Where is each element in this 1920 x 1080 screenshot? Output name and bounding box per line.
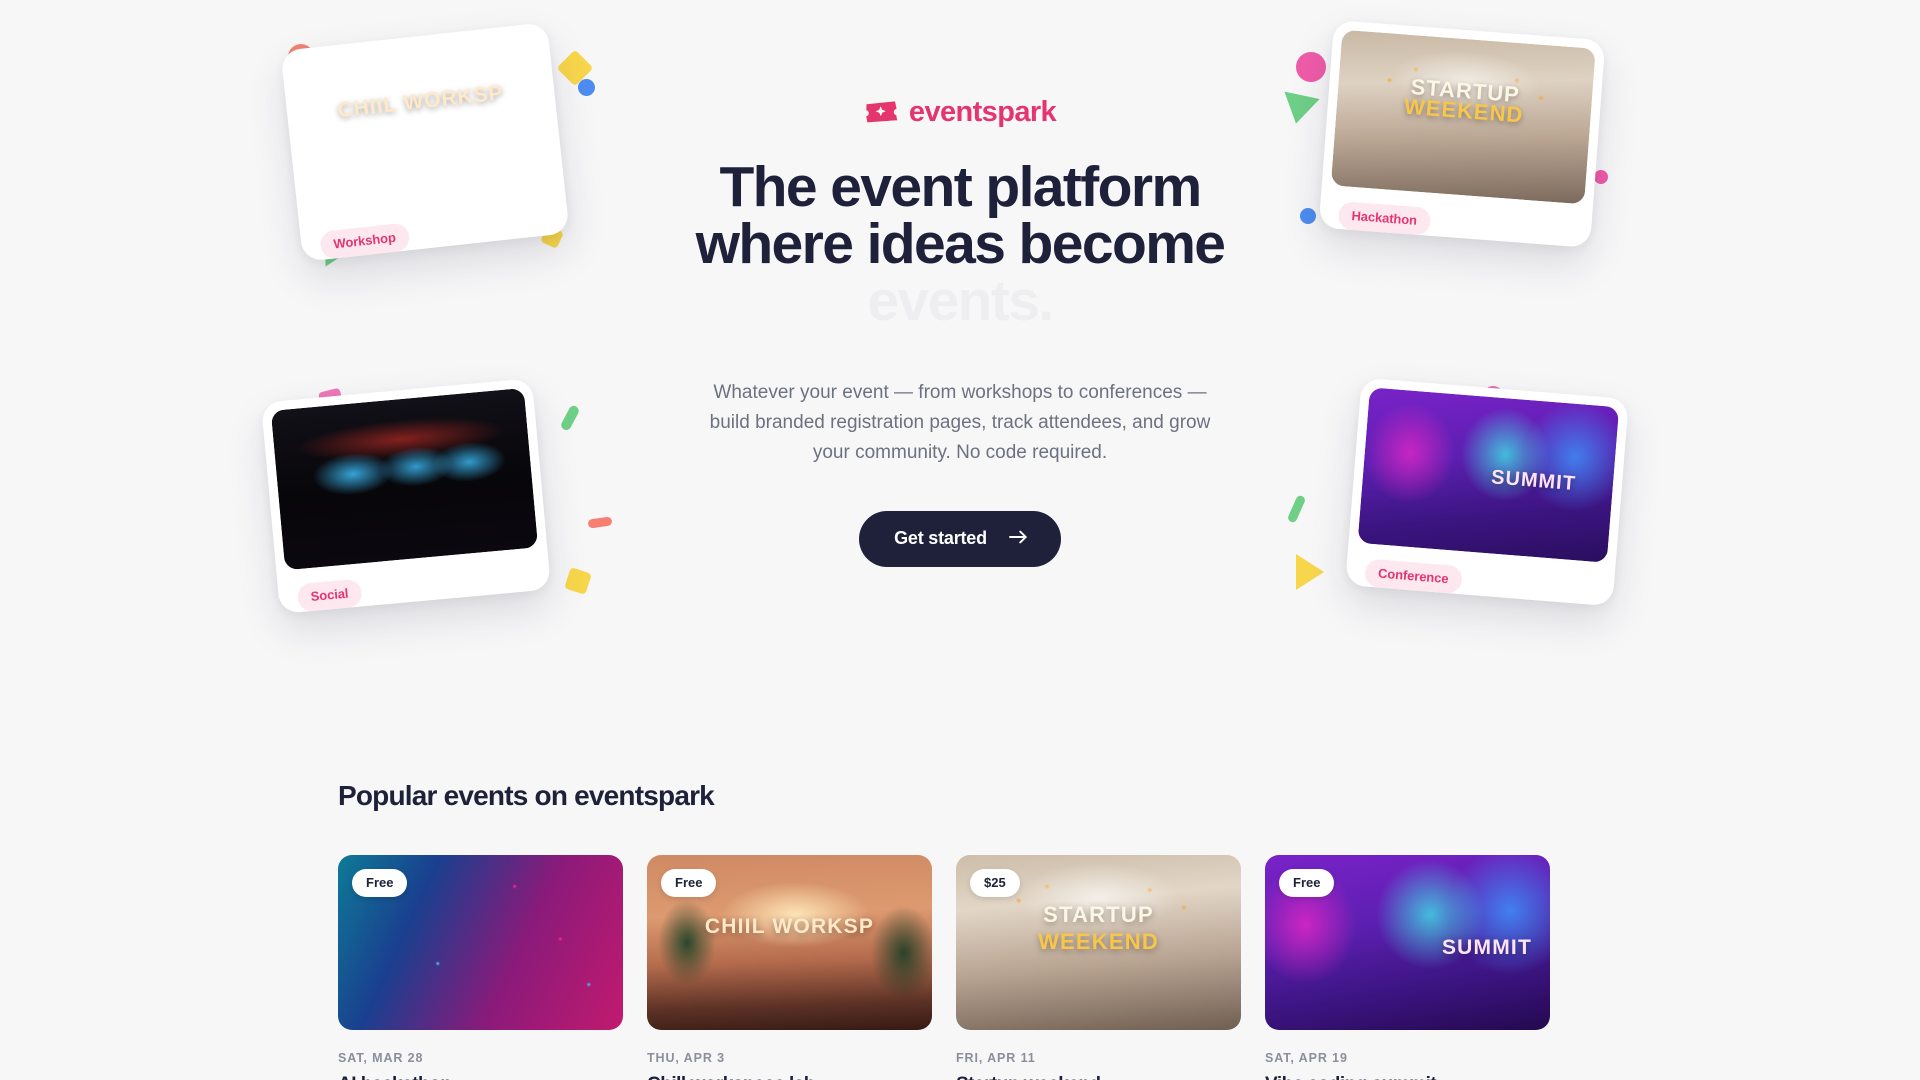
- floating-card-photo-conference: SUMMIT: [1358, 387, 1620, 563]
- event-title: Vibe coding summit: [1265, 1074, 1550, 1080]
- event-date: SAT, MAR 28: [338, 1051, 623, 1065]
- tag-pill-conference: Conference: [1364, 559, 1462, 595]
- tag-pill-hackathon: Hackathon: [1338, 201, 1431, 236]
- decor-circle-pink-topright: [1296, 52, 1326, 82]
- events-grid: Free SAT, MAR 28 AI hackathon Free CHIIL…: [338, 855, 1550, 1080]
- hero-content: eventspark The event platform where idea…: [580, 96, 1340, 567]
- tag-pill-workshop: Workshop: [319, 222, 410, 259]
- event-thumbnail-startup-weekend: $25 STARTUP WEEKEND: [956, 855, 1241, 1030]
- headline-line-2: where ideas become: [580, 216, 1340, 273]
- arrow-right-icon: [1009, 528, 1028, 549]
- popular-events-title: Popular events on eventspark: [338, 780, 714, 812]
- event-thumbnail-chill-workspace: Free CHIIL WORKSP: [647, 855, 932, 1030]
- event-card[interactable]: Free SAT, MAR 28 AI hackathon: [338, 855, 623, 1080]
- event-date: THU, APR 3: [647, 1051, 932, 1065]
- event-title: Chill workspace lab: [647, 1074, 932, 1080]
- get-started-label: Get started: [894, 528, 987, 549]
- hero-subcopy: Whatever your event — from workshops to …: [700, 378, 1220, 468]
- decor-dash-green-left: [559, 404, 580, 432]
- thumb-overlay-text-line2: WEEKEND: [956, 929, 1241, 955]
- photo-overlay-text: SUMMIT: [1455, 463, 1611, 498]
- event-date: SAT, APR 19: [1265, 1051, 1550, 1065]
- event-card[interactable]: Free CHIIL WORKSP THU, APR 3 Chill works…: [647, 855, 932, 1080]
- headline-line-1: The event platform: [580, 159, 1340, 216]
- headline-line-3: events.: [580, 273, 1340, 330]
- cta-wrapper: Get started: [580, 511, 1340, 567]
- event-date: FRI, APR 11: [956, 1051, 1241, 1065]
- decor-circle-pink-right-edge: [1594, 170, 1608, 184]
- page-title: The event platform where ideas become ev…: [580, 159, 1340, 330]
- ticket-sparkle-icon: [864, 98, 898, 128]
- tag-pill-social: Social: [297, 579, 363, 613]
- thumb-overlay-text-line1: STARTUP: [956, 902, 1241, 928]
- price-badge: $25: [970, 869, 1020, 897]
- thumb-overlay-text: CHIIL WORKSP: [647, 915, 932, 939]
- floating-card-photo-workshop: CHIIL WORKSP: [290, 32, 556, 218]
- landing-page: CHIIL WORKSP Workshop STARTUP WEEKEND Ha…: [0, 0, 1920, 1080]
- event-thumbnail-neon-summit: Free SUMMIT: [1265, 855, 1550, 1030]
- event-thumbnail-ai-neural-hands: Free: [338, 855, 623, 1030]
- floating-card-social[interactable]: Social: [261, 378, 551, 614]
- floating-card-photo-social: [271, 388, 538, 570]
- hero-section: CHIIL WORKSP Workshop STARTUP WEEKEND Ha…: [0, 0, 1920, 690]
- photo-overlay-text: CHIIL WORKSP: [295, 77, 546, 128]
- floating-card-workshop[interactable]: CHIIL WORKSP Workshop: [280, 22, 569, 262]
- price-badge: Free: [1279, 869, 1334, 897]
- floating-card-conference[interactable]: SUMMIT Conference: [1345, 378, 1629, 607]
- decor-circle-blue-topleft: [578, 79, 595, 96]
- event-title: Startup weekend: [956, 1074, 1241, 1080]
- price-badge: Free: [352, 869, 407, 897]
- price-badge: Free: [661, 869, 716, 897]
- decor-square-yellow-social: [564, 567, 592, 595]
- thumb-overlay-text: SUMMIT: [1265, 936, 1550, 960]
- event-card[interactable]: Free SUMMIT SAT, APR 19 Vibe coding summ…: [1265, 855, 1550, 1080]
- brand-name: eventspark: [909, 96, 1056, 129]
- brand-logo[interactable]: eventspark: [580, 96, 1340, 129]
- floating-card-hackathon[interactable]: STARTUP WEEKEND Hackathon: [1319, 20, 1606, 248]
- event-title: AI hackathon: [338, 1074, 623, 1080]
- get-started-button[interactable]: Get started: [859, 511, 1061, 567]
- floating-card-photo-hackathon: STARTUP WEEKEND: [1331, 30, 1596, 205]
- event-card[interactable]: $25 STARTUP WEEKEND FRI, APR 11 Startup …: [956, 855, 1241, 1080]
